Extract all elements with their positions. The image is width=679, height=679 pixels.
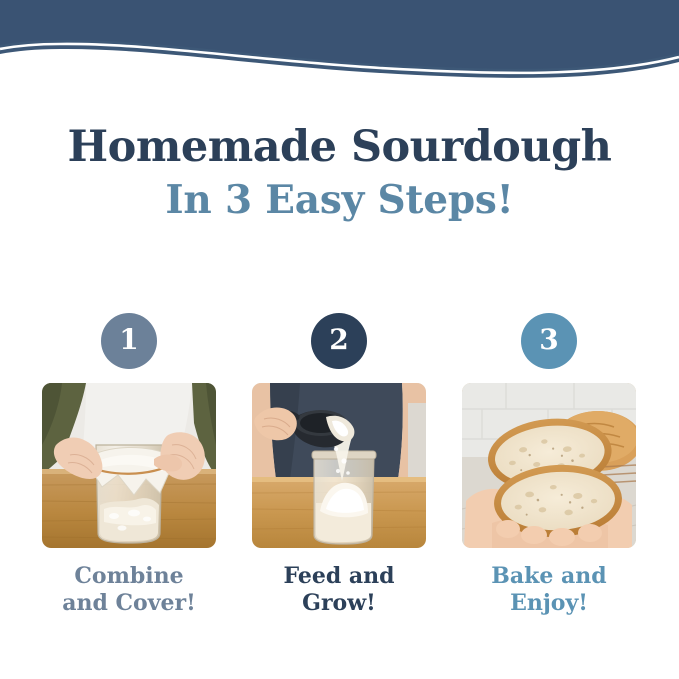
step-1-caption-line-2: and Cover! <box>31 590 227 617</box>
step-1-number: 1 <box>119 326 138 354</box>
step-2-caption-line-2: Grow! <box>241 590 437 617</box>
step-3-photo <box>462 383 636 548</box>
step-1-number-badge: 1 <box>101 313 157 369</box>
step-1-photo <box>42 383 216 548</box>
step-3-number: 3 <box>539 326 558 354</box>
steps-row: 1 <box>0 310 679 640</box>
top-wave-banner <box>0 0 679 110</box>
step-1-caption-line-1: Combine <box>31 563 227 590</box>
step-3-caption: Bake and Enjoy! <box>451 563 647 617</box>
title-line-1: Homemade Sourdough <box>0 122 679 172</box>
step-2-caption: Feed and Grow! <box>241 563 437 617</box>
step-3-caption-line-2: Enjoy! <box>451 590 647 617</box>
step-3: 3 <box>451 310 647 617</box>
step-3-caption-line-1: Bake and <box>451 563 647 590</box>
title-line-2: In 3 Easy Steps! <box>0 176 679 224</box>
step-2-number-badge: 2 <box>311 313 367 369</box>
step-1: 1 <box>31 310 227 617</box>
banner-hairline <box>0 44 679 73</box>
infographic-canvas: Homemade Sourdough In 3 Easy Steps! 1 <box>0 0 679 679</box>
step-2-photo <box>252 383 426 548</box>
banner-under-band <box>0 0 679 78</box>
page-title: Homemade Sourdough In 3 Easy Steps! <box>0 122 679 224</box>
step-2-caption-line-1: Feed and <box>241 563 437 590</box>
step-1-caption: Combine and Cover! <box>31 563 227 617</box>
step-2: 2 <box>241 310 437 617</box>
banner-main-band <box>0 0 679 69</box>
step-3-number-badge: 3 <box>521 313 577 369</box>
step-2-number: 2 <box>329 326 348 354</box>
